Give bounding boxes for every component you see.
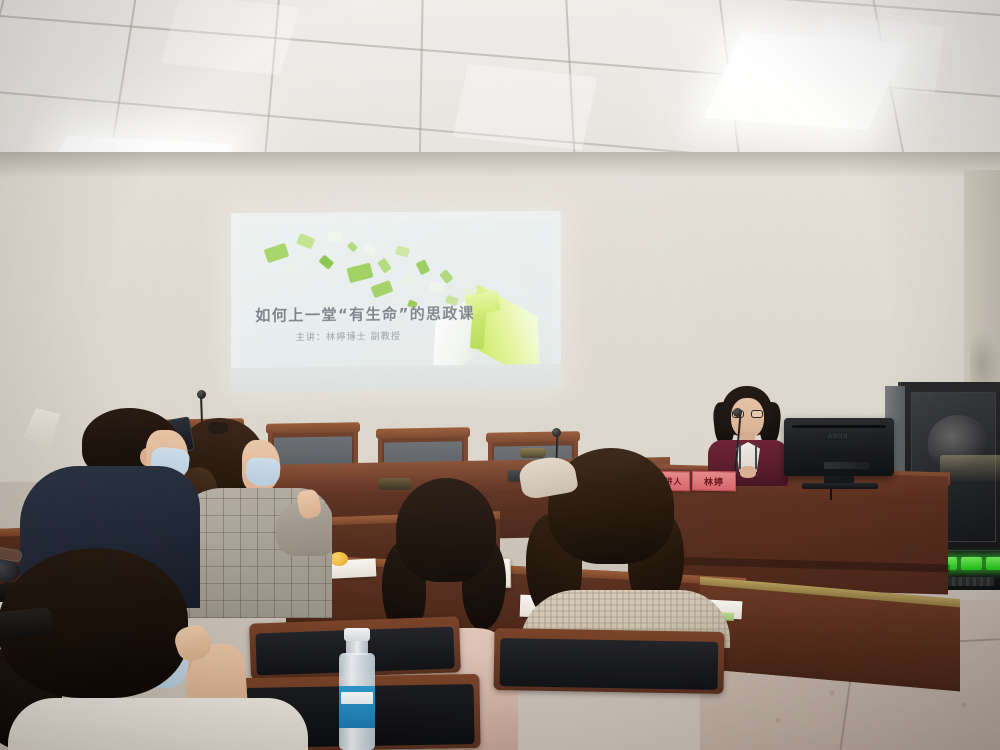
slide-title: 如何上一堂“有生命”的思政课 xyxy=(255,301,545,325)
presenter-hand xyxy=(740,466,756,478)
attendee-knit-sweater xyxy=(520,448,730,648)
wall-top-shadow xyxy=(0,152,1000,178)
hair-clip xyxy=(520,448,546,458)
bottle-cap xyxy=(344,628,370,641)
lecture-hall-photo: 如何上一堂“有生命”的思政课 主讲：林婷博士 副教授 xyxy=(0,0,1000,750)
presenter-microphone-head xyxy=(733,408,742,417)
monitor-brand-label: ASUS xyxy=(828,434,848,440)
slide-canvas: 如何上一堂“有生命”的思政课 主讲：林婷博士 副教授 xyxy=(239,220,553,370)
monitor-vent xyxy=(792,425,886,428)
screen-bottom-band xyxy=(231,364,561,393)
foreground-chair xyxy=(493,628,724,694)
projection-screen: 如何上一堂“有生命”的思政课 主讲：林婷博士 副教授 xyxy=(231,211,561,392)
water-bottle xyxy=(336,628,378,750)
mixer-led-indicator xyxy=(961,557,982,570)
monitor-ports xyxy=(824,462,870,469)
hair-clip xyxy=(378,478,412,490)
face-mask xyxy=(245,457,281,487)
screen-surface: 如何上一堂“有生命”的思政课 主讲：林婷博士 副教授 xyxy=(231,211,561,392)
monitor-base xyxy=(802,483,878,489)
attendee-fluffy-coat xyxy=(0,548,320,750)
slide-confetti-pages xyxy=(239,220,553,222)
microphone-head xyxy=(197,390,206,399)
computer-monitor: ASUS xyxy=(784,418,894,476)
microphone-head xyxy=(552,428,561,437)
mixer-led-indicator xyxy=(986,557,1000,570)
